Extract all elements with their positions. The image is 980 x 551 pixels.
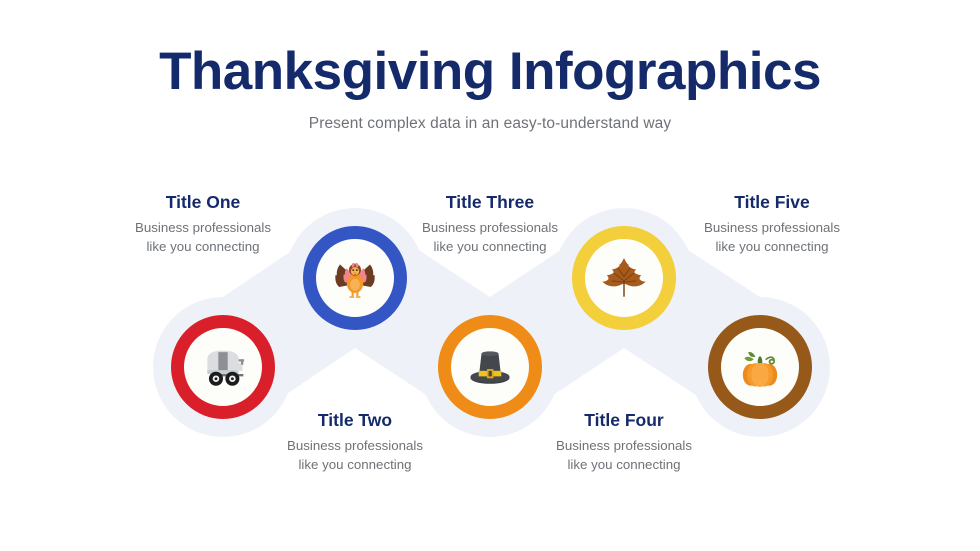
caption-three-line1: Business professionals	[422, 220, 558, 235]
caption-three: Title Three Business professionals like …	[380, 192, 600, 257]
caption-four-line1: Business professionals	[556, 438, 692, 453]
caption-two-title: Title Two	[245, 410, 465, 431]
page-subtitle: Present complex data in an easy-to-under…	[0, 100, 980, 133]
caption-five-line2: like you connecting	[662, 237, 882, 256]
caption-two: Title Two Business professionals like yo…	[245, 410, 465, 475]
caption-one-line1: Business professionals	[135, 220, 271, 235]
caption-three-body: Business professionals like you connecti…	[380, 213, 600, 257]
caption-three-title: Title Three	[380, 192, 600, 213]
caption-four: Title Four Business professionals like y…	[514, 410, 734, 475]
caption-four-line2: like you connecting	[514, 455, 734, 474]
node-one[interactable]	[171, 315, 275, 419]
caption-four-body: Business professionals like you connecti…	[514, 431, 734, 475]
node-three[interactable]	[438, 315, 542, 419]
caption-one-line2: like you connecting	[93, 237, 313, 256]
caption-five-body: Business professionals like you connecti…	[662, 213, 882, 257]
node-five[interactable]	[708, 315, 812, 419]
caption-two-body: Business professionals like you connecti…	[245, 431, 465, 475]
caption-five-title: Title Five	[662, 192, 882, 213]
page-title: Thanksgiving Infographics	[0, 44, 980, 100]
pilgrim-hat-icon	[451, 328, 529, 406]
covered-wagon-icon	[184, 328, 262, 406]
caption-one-body: Business professionals like you connecti…	[93, 213, 313, 257]
caption-two-line1: Business professionals	[287, 438, 423, 453]
header-block: Thanksgiving Infographics Present comple…	[0, 44, 980, 133]
caption-five: Title Five Business professionals like y…	[662, 192, 882, 257]
caption-one: Title One Business professionals like yo…	[93, 192, 313, 257]
caption-three-line2: like you connecting	[380, 237, 600, 256]
pumpkin-icon	[721, 328, 799, 406]
slide-canvas: Thanksgiving Infographics Present comple…	[0, 0, 980, 551]
caption-four-title: Title Four	[514, 410, 734, 431]
caption-five-line1: Business professionals	[704, 220, 840, 235]
caption-two-line2: like you connecting	[245, 455, 465, 474]
caption-one-title: Title One	[93, 192, 313, 213]
